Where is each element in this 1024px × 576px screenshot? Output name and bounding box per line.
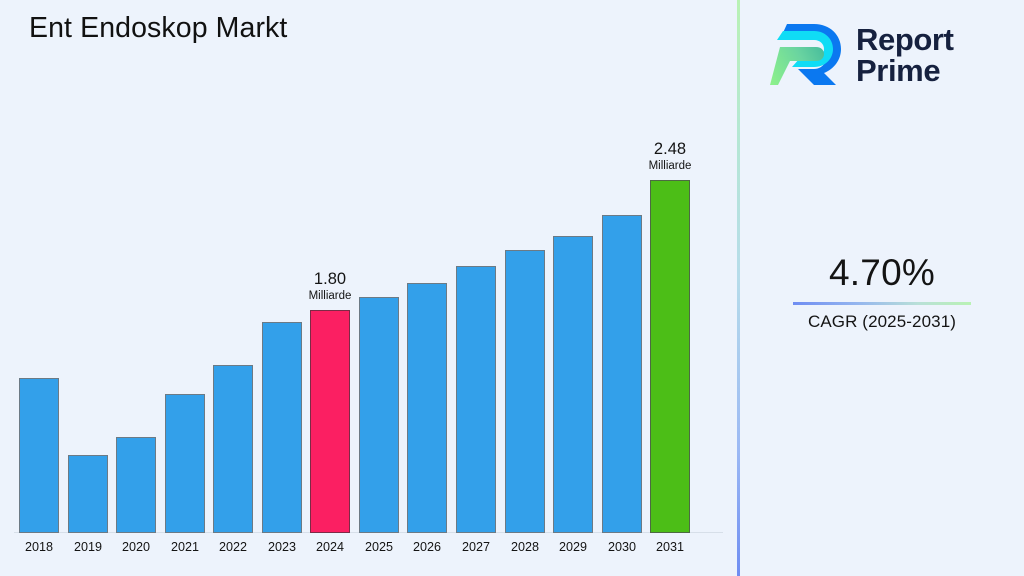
x-axis-label-2027: 2027	[456, 540, 496, 554]
bar-value-label-2024: 1.80Milliarde	[309, 271, 352, 302]
x-axis-label-2022: 2022	[213, 540, 253, 554]
brand-wordmark: Report Prime	[856, 24, 954, 86]
x-axis-label-2029: 2029	[553, 540, 593, 554]
bar-rect-2028	[505, 250, 545, 533]
chart-panel: Ent Endoskop Markt 201820192020202120222…	[0, 0, 737, 576]
brand-name-line1: Report	[856, 24, 954, 55]
bar-rect-2029	[553, 236, 593, 533]
bar-value-unit-2031: Milliarde	[649, 160, 692, 172]
bar-rect-2018	[19, 378, 59, 533]
bar-chart-plot-area: 2018201920202021202220231.80Milliarde202…	[0, 0, 737, 576]
x-axis-label-2020: 2020	[116, 540, 156, 554]
bar-rect-2026	[407, 283, 447, 533]
x-axis-label-2018: 2018	[19, 540, 59, 554]
bar-value-unit-2024: Milliarde	[309, 290, 352, 302]
report-prime-logo-icon	[770, 19, 846, 91]
x-axis-label-2026: 2026	[407, 540, 447, 554]
x-axis-label-2021: 2021	[165, 540, 205, 554]
cagr-caption: CAGR (2025-2031)	[762, 312, 1002, 332]
bar-rect-2024	[310, 310, 350, 533]
x-axis-label-2023: 2023	[262, 540, 302, 554]
bar-rect-2020	[116, 437, 156, 533]
x-axis-label-2031: 2031	[650, 540, 690, 554]
bar-value-number-2024: 1.80	[309, 271, 352, 288]
cagr-block: 4.70% CAGR (2025-2031)	[762, 253, 1002, 332]
cagr-divider-rule	[793, 302, 971, 305]
x-axis-label-2025: 2025	[359, 540, 399, 554]
bar-rect-2023	[262, 322, 302, 533]
bar-rect-2019	[68, 455, 108, 533]
x-axis-label-2024: 2024	[310, 540, 350, 554]
bar-rect-2021	[165, 394, 205, 533]
bar-value-label-2031: 2.48Milliarde	[649, 141, 692, 172]
brand-logo[interactable]: Report Prime	[770, 12, 1000, 97]
bar-rect-2030	[602, 215, 642, 533]
x-axis-label-2019: 2019	[68, 540, 108, 554]
x-axis-label-2028: 2028	[505, 540, 545, 554]
bar-rect-2031	[650, 180, 690, 533]
bar-value-number-2031: 2.48	[649, 141, 692, 158]
bar-rect-2027	[456, 266, 496, 533]
brand-panel: Report Prime 4.70% CAGR (2025-2031)	[740, 0, 1024, 576]
screenshot-root: Ent Endoskop Markt 201820192020202120222…	[0, 0, 1024, 576]
bar-rect-2025	[359, 297, 399, 533]
brand-name-line2: Prime	[856, 55, 954, 86]
cagr-value: 4.70%	[762, 253, 1002, 294]
bar-rect-2022	[213, 365, 253, 533]
x-axis-label-2030: 2030	[602, 540, 642, 554]
